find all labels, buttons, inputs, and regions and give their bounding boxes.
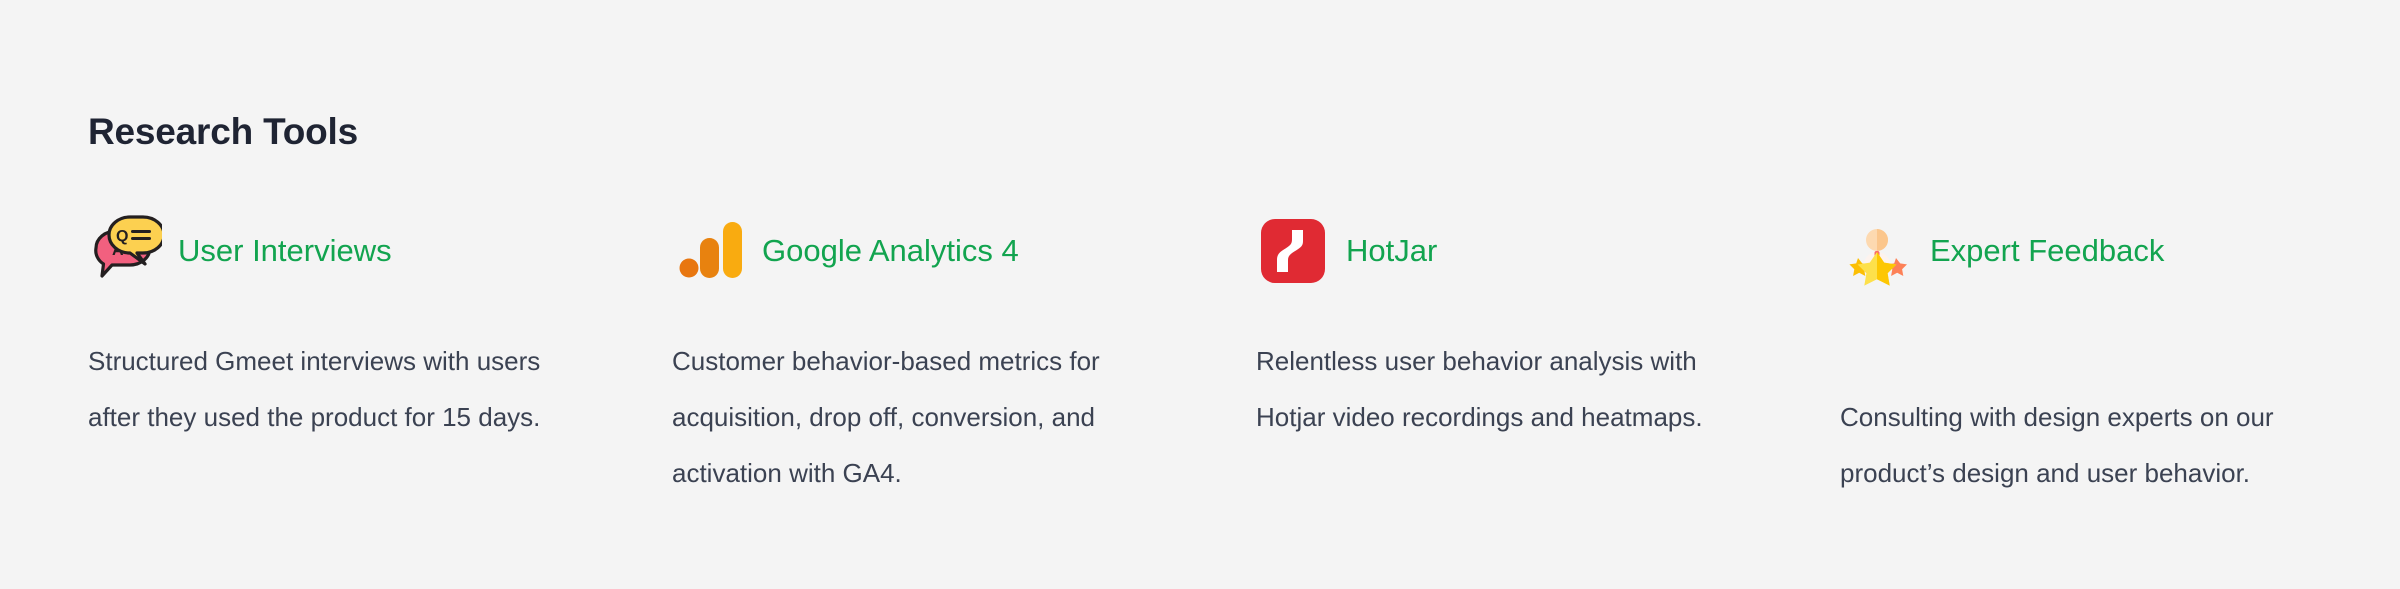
tool-description: Relentless user behavior analysis with H…: [1256, 334, 1736, 446]
tool-header: Expert Feedback: [1840, 208, 2370, 294]
tool-description: Consulting with design experts on our pr…: [1840, 390, 2320, 502]
tool-header: HotJar: [1256, 208, 1786, 294]
tool-description: Structured Gmeet interviews with users a…: [88, 334, 568, 446]
tool-header: Google Analytics 4: [672, 208, 1202, 294]
tool-header: A Q User Interviews: [88, 208, 618, 294]
tool-title: Expert Feedback: [1930, 234, 2164, 268]
tool-description: Customer behavior-based metrics for acqu…: [672, 334, 1152, 502]
qa-speech-bubbles-icon: A Q: [88, 214, 162, 288]
tool-card-expert-feedback[interactable]: Expert Feedback Consulting with design e…: [1840, 208, 2370, 502]
google-analytics-4-icon: [672, 214, 746, 288]
tool-title: User Interviews: [178, 234, 392, 268]
research-tools-section: Research Tools A Q: [0, 0, 2400, 589]
tool-card-user-interviews[interactable]: A Q User Interviews Structured Gmeet int…: [88, 208, 618, 502]
hotjar-logo-icon: [1256, 214, 1330, 288]
tool-card-google-analytics-4[interactable]: Google Analytics 4 Customer behavior-bas…: [672, 208, 1202, 502]
page-title: Research Tools: [88, 110, 358, 154]
svg-text:Q: Q: [116, 228, 128, 245]
research-tools-grid: A Q User Interviews Structured Gmeet int…: [88, 208, 2352, 502]
expert-stars-person-icon: [1840, 214, 1914, 288]
tool-title: Google Analytics 4: [762, 234, 1019, 268]
tool-title: HotJar: [1346, 234, 1437, 268]
tool-card-hotjar[interactable]: HotJar Relentless user behavior analysis…: [1256, 208, 1786, 502]
